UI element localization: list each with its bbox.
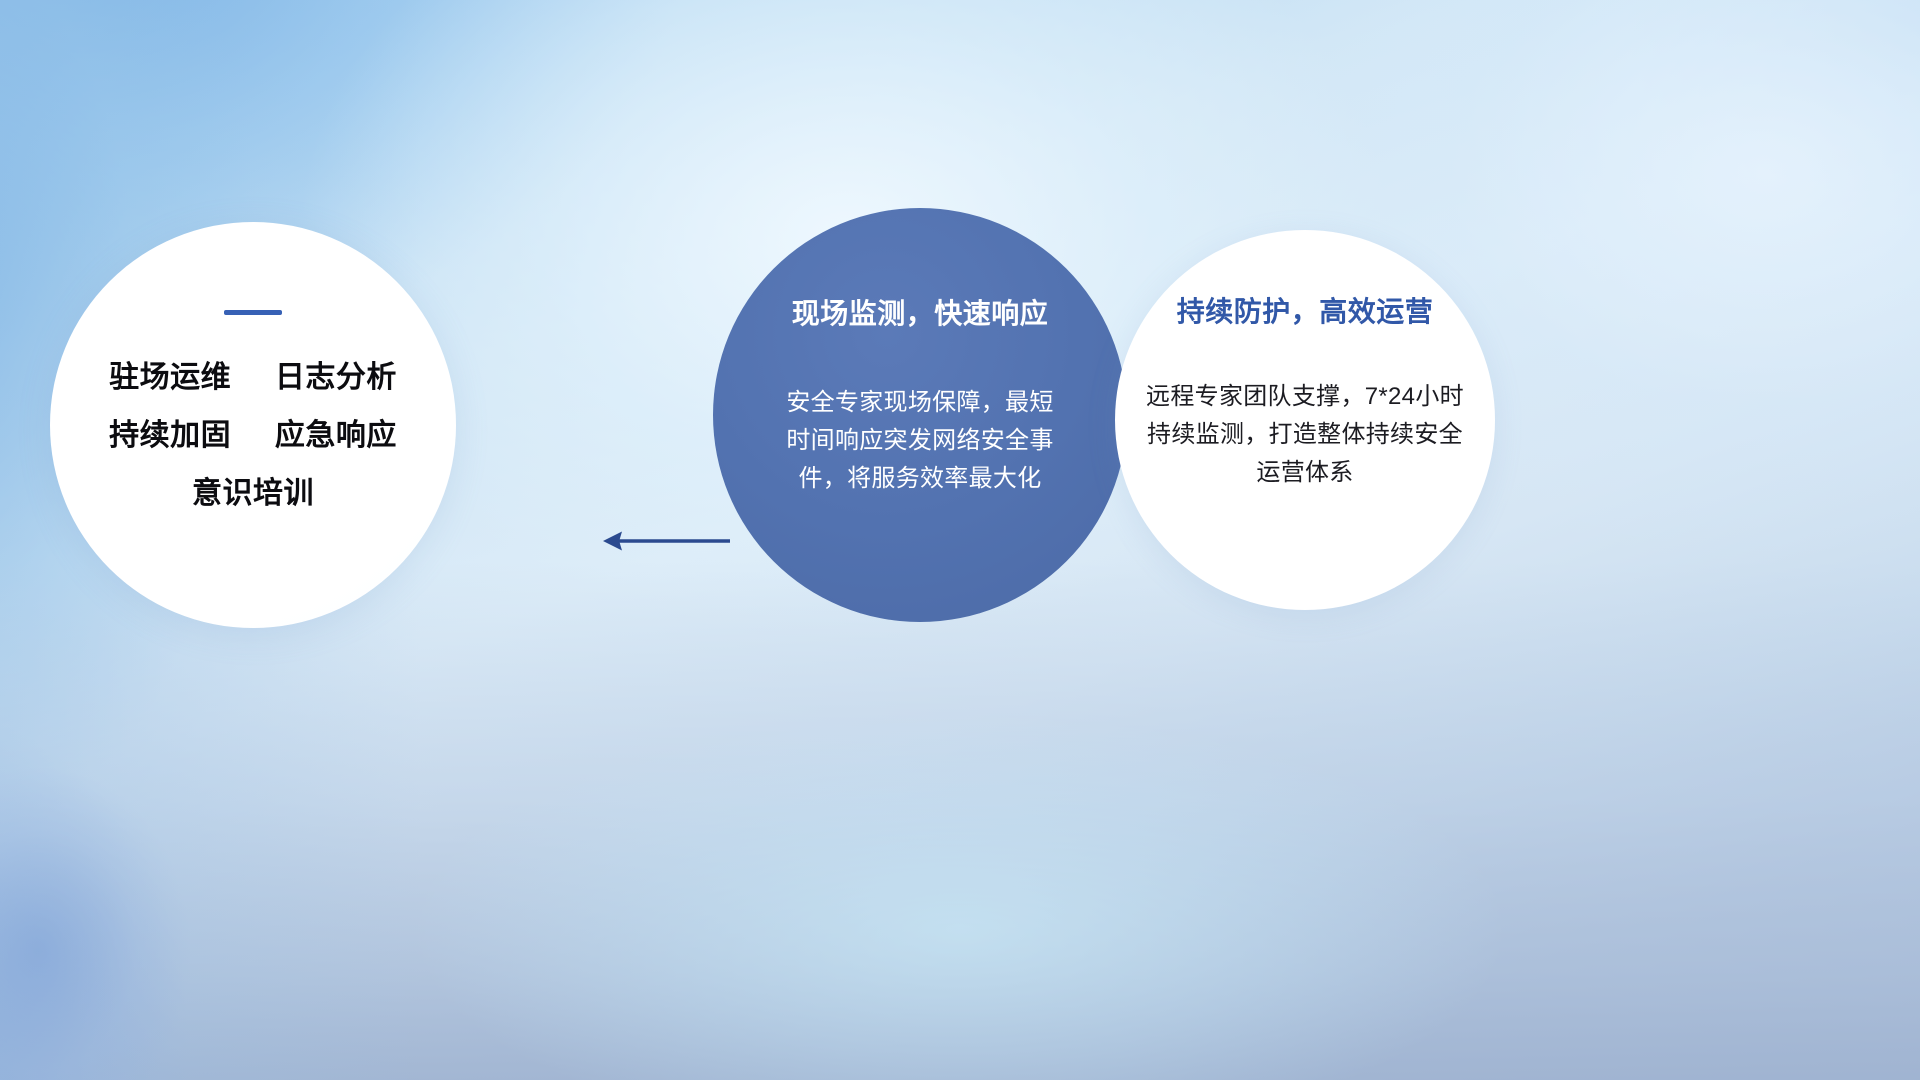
right-circle-body: 远程专家团队支撑，7*24小时持续监测，打造整体持续安全运营体系 <box>1140 378 1470 492</box>
left-circle-row-1: 驻场运维 日志分析 <box>109 363 397 393</box>
left-circle-card: 驻场运维 日志分析 持续加固 应急响应 意识培训 <box>50 222 456 628</box>
left-tag-zhuchangyunwei: 驻场运维 <box>109 361 231 394</box>
divider-dash-icon <box>224 310 282 315</box>
mid-circle-card: 现场监测，快速响应 安全专家现场保障，最短时间响应突发网络安全事件，将服务效率最… <box>713 208 1127 622</box>
left-tag-yingjixiangying: 应急响应 <box>275 419 397 452</box>
left-circle-row-3: 意识培训 <box>192 479 314 509</box>
mid-circle-content: 现场监测，快速响应 安全专家现场保障，最短时间响应突发网络安全事件，将服务效率最… <box>713 208 1127 622</box>
left-tag-rizhifenxi: 日志分析 <box>275 361 397 394</box>
left-circle-content: 驻场运维 日志分析 持续加固 应急响应 意识培训 <box>50 222 456 628</box>
left-tag-yishipeixun: 意识培训 <box>192 477 314 510</box>
left-circle-row-2: 持续加固 应急响应 <box>109 421 397 451</box>
right-circle-title: 持续防护，高效运营 <box>1177 298 1434 326</box>
mid-circle-title: 现场监测，快速响应 <box>792 300 1049 328</box>
left-tag-chixujiagu: 持续加固 <box>109 419 231 452</box>
mid-circle-body: 安全专家现场保障，最短时间响应突发网络安全事件，将服务效率最大化 <box>786 384 1054 498</box>
right-circle-card: 持续防护，高效运营 远程专家团队支撑，7*24小时持续监测，打造整体持续安全运营… <box>1115 230 1495 610</box>
right-circle-content: 持续防护，高效运营 远程专家团队支撑，7*24小时持续监测，打造整体持续安全运营… <box>1115 230 1495 610</box>
flow-arrow-left-icon <box>600 524 730 558</box>
